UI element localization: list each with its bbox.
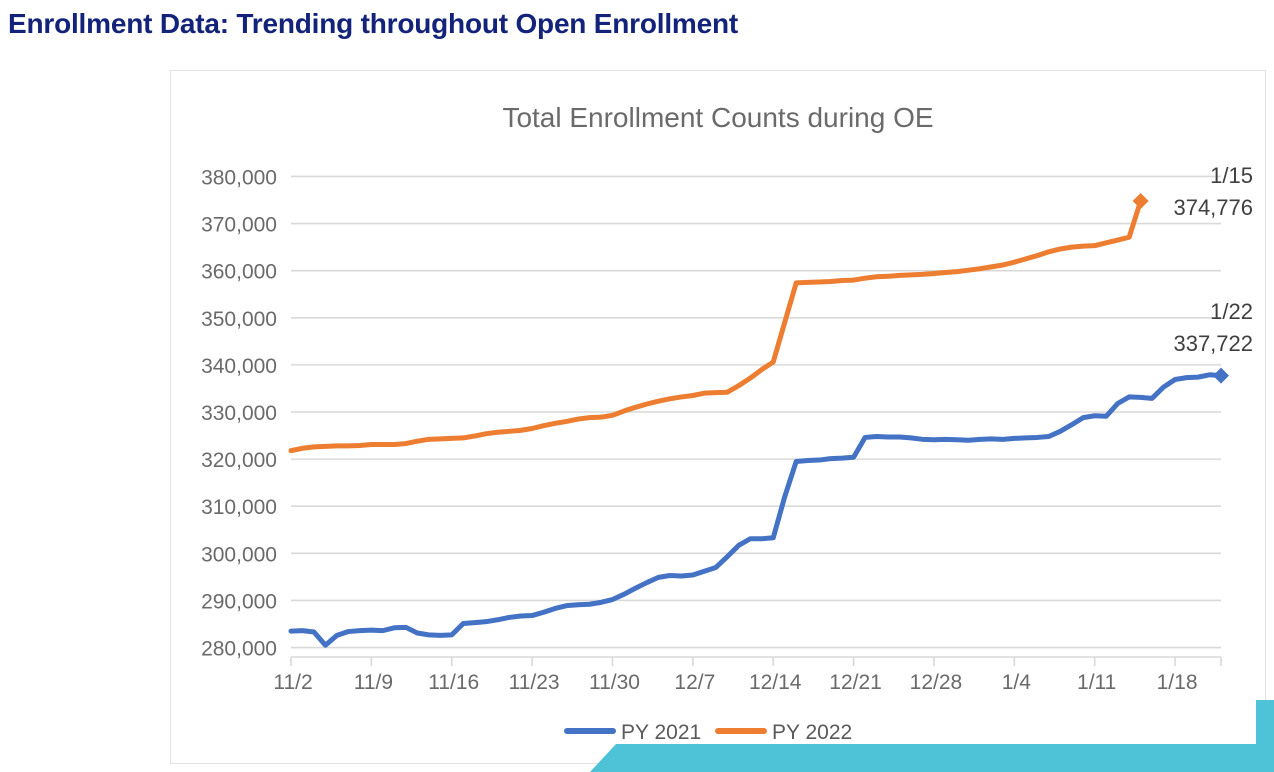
x-tick-label: 12/14 — [749, 671, 802, 694]
page-title: Enrollment Data: Trending throughout Ope… — [8, 8, 738, 40]
x-tick-label: 12/28 — [910, 671, 963, 694]
legend-label[interactable]: PY 2022 — [772, 721, 852, 744]
x-tick-label: 11/23 — [509, 671, 560, 694]
x-tick-label: 11/16 — [428, 671, 479, 694]
y-tick-label: 300,000 — [201, 543, 277, 566]
y-tick-label: 360,000 — [201, 261, 277, 284]
series-end-marker — [1133, 193, 1149, 209]
series-line — [291, 375, 1221, 645]
series-line — [291, 201, 1141, 451]
x-tick-label: 11/2 — [273, 671, 312, 694]
y-tick-label: 290,000 — [201, 590, 277, 613]
legend-label[interactable]: PY 2021 — [621, 721, 701, 744]
x-axis-tick-labels: 11/211/911/1611/2311/3012/712/1412/2112/… — [273, 671, 1197, 694]
y-tick-label: 380,000 — [201, 166, 277, 189]
x-tick-label: 1/18 — [1157, 671, 1198, 694]
x-axis-ticks — [291, 657, 1221, 666]
y-tick-label: 280,000 — [201, 638, 277, 661]
y-tick-label: 330,000 — [201, 402, 277, 425]
x-tick-label: 1/11 — [1077, 671, 1116, 694]
y-tick-label: 320,000 — [201, 449, 277, 472]
y-tick-label: 310,000 — [201, 496, 277, 519]
annotation-value: 337,722 — [1173, 331, 1253, 356]
x-tick-label: 12/21 — [829, 671, 882, 694]
y-tick-label: 350,000 — [201, 308, 277, 331]
series-end-marker — [1213, 368, 1229, 384]
annotation-value: 374,776 — [1173, 195, 1253, 220]
x-tick-label: 12/7 — [674, 671, 715, 694]
enrollment-line-chart: Total Enrollment Counts during OE 280,00… — [171, 71, 1265, 763]
x-tick-label: 11/9 — [354, 671, 393, 694]
y-axis-tick-labels: 280,000290,000300,000310,000320,000330,0… — [201, 166, 277, 660]
chart-title: Total Enrollment Counts during OE — [502, 102, 933, 133]
annotation-date: 1/22 — [1210, 299, 1253, 324]
y-tick-label: 370,000 — [201, 214, 277, 237]
y-tick-label: 340,000 — [201, 355, 277, 378]
x-tick-label: 1/4 — [1002, 671, 1032, 694]
annotation-date: 1/15 — [1210, 163, 1253, 188]
chart-container: Total Enrollment Counts during OE 280,00… — [170, 70, 1266, 764]
series-lines — [291, 193, 1229, 645]
chart-legend: PY 2021PY 2022 — [567, 721, 852, 744]
x-tick-label: 11/30 — [589, 671, 640, 694]
data-point-annotations: 1/15374,7761/22337,722 — [1173, 163, 1253, 356]
